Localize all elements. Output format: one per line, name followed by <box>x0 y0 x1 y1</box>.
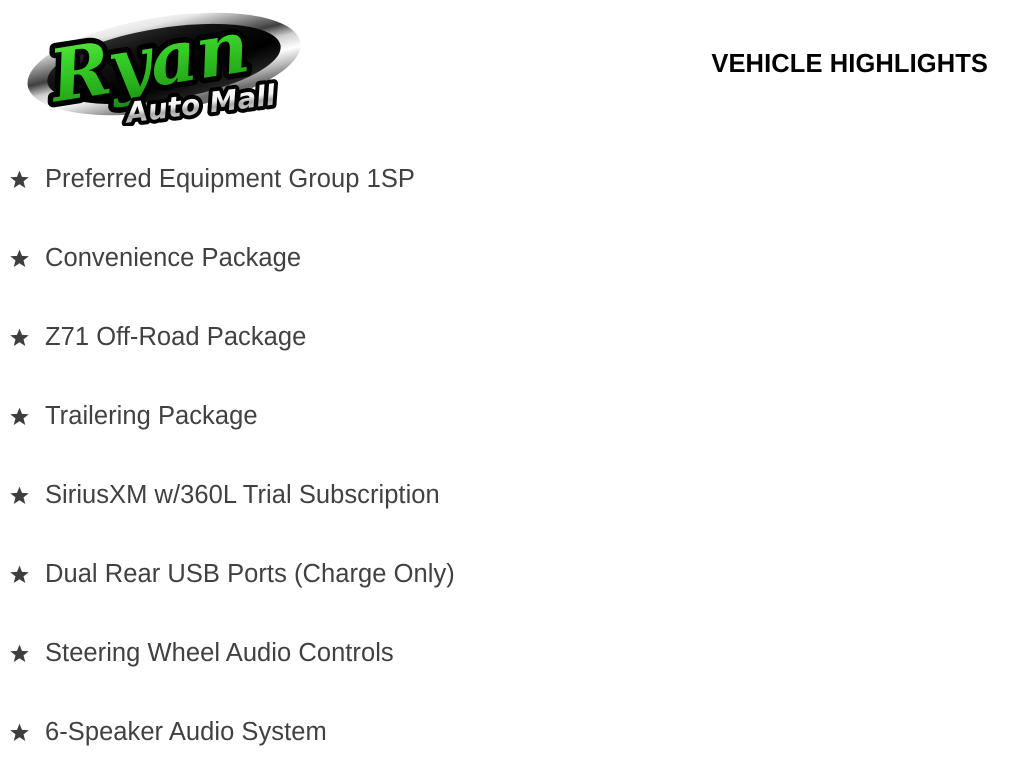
star-icon <box>9 564 30 585</box>
ryan-auto-mall-logo: Ryan Ryan Auto Mall Auto Mall <box>14 2 304 126</box>
list-item-label: Z71 Off-Road Package <box>45 325 306 351</box>
page-header: Ryan Ryan Auto Mall Auto Mall VEHICLE HI… <box>0 0 1024 130</box>
list-item-label: Convenience Package <box>45 246 301 272</box>
star-icon <box>9 406 30 427</box>
star-icon <box>9 169 30 190</box>
list-item: Steering Wheel Audio Controls <box>0 614 1024 693</box>
list-item: 6-Speaker Audio System <box>0 693 1024 772</box>
list-item: SiriusXM w/360L Trial Subscription <box>0 456 1024 535</box>
vehicle-highlights-list: Preferred Equipment Group 1SP Convenienc… <box>0 140 1024 772</box>
list-item-label: 6-Speaker Audio System <box>45 720 327 746</box>
vehicle-highlights-page: Ryan Ryan Auto Mall Auto Mall VEHICLE HI… <box>0 0 1024 768</box>
list-item-label: Preferred Equipment Group 1SP <box>45 167 415 193</box>
list-item-label: SiriusXM w/360L Trial Subscription <box>45 483 440 509</box>
list-item: Z71 Off-Road Package <box>0 298 1024 377</box>
star-icon <box>9 485 30 506</box>
page-title: VEHICLE HIGHLIGHTS <box>711 50 988 79</box>
star-icon <box>9 327 30 348</box>
star-icon <box>9 248 30 269</box>
list-item: Dual Rear USB Ports (Charge Only) <box>0 535 1024 614</box>
star-icon <box>9 722 30 743</box>
list-item: Trailering Package <box>0 377 1024 456</box>
list-item-label: Trailering Package <box>45 404 258 430</box>
list-item-label: Steering Wheel Audio Controls <box>45 641 394 667</box>
list-item-label: Dual Rear USB Ports (Charge Only) <box>45 562 455 588</box>
list-item: Convenience Package <box>0 219 1024 298</box>
star-icon <box>9 643 30 664</box>
list-item: Preferred Equipment Group 1SP <box>0 140 1024 219</box>
